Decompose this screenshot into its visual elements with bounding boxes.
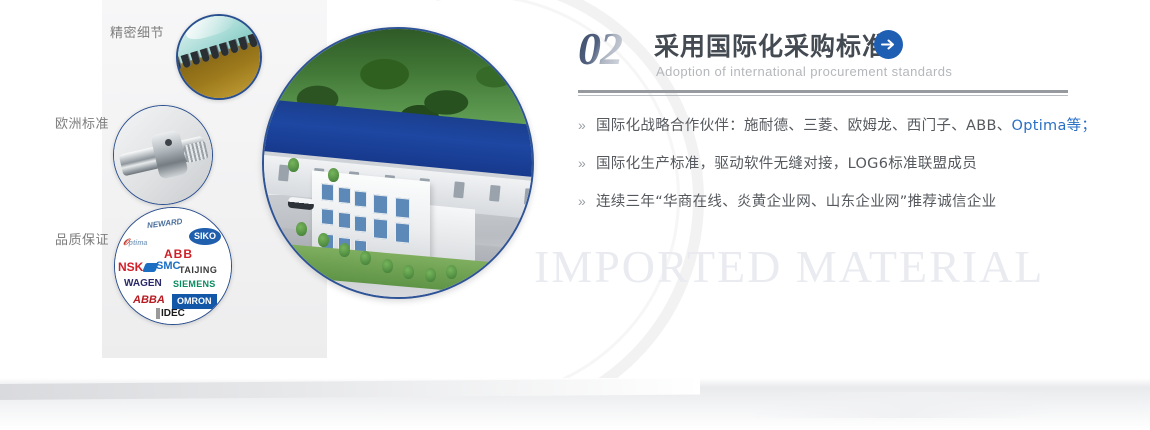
list-item-text: 连续三年“华商在线、炎黄企业网、山东企业网”推荐诚信企业 <box>596 190 996 211</box>
promo-banner: 精密细节 欧洲标准 品质保证 NEWARD SIKO 𝒪ptima ABB NS… <box>0 0 1150 430</box>
section-number: 02 <box>578 22 622 75</box>
logo-smc: SMC <box>156 261 180 272</box>
logo-wagen: WAGEN <box>124 279 162 289</box>
header-divider <box>578 90 1068 96</box>
list-item: » 国际化生产标准，驱动软件无缝对接，LOG6标准联盟成员 <box>578 152 1078 173</box>
label-european-standard: 欧洲标准 <box>55 113 109 132</box>
list-item-text: 国际化生产标准，驱动软件无缝对接，LOG6标准联盟成员 <box>596 152 977 173</box>
ball-screw-detail-circle <box>113 105 213 205</box>
precision-gear-detail-circle <box>176 14 262 100</box>
logo-abb: ABB <box>164 248 193 260</box>
section-header: 02 采用国际化采购标准 Adoption of international p… <box>578 22 1098 84</box>
idec-bar-icon <box>156 308 160 319</box>
logo-taijing: TAIJING <box>179 266 217 275</box>
logo-idec: IDEC <box>161 309 185 319</box>
brand-logos-circle: NEWARD SIKO 𝒪ptima ABB NSK SMC TAIJING W… <box>114 207 232 325</box>
label-quality-assurance: 品质保证 <box>55 229 109 248</box>
bullet-chevron-icon: » <box>578 155 596 171</box>
list-item-text: 国际化战略合作伙伴：施耐德、三菱、欧姆龙、西门子、ABB、Optima等； <box>596 114 1096 135</box>
logo-siemens: SIEMENS <box>173 280 216 289</box>
arrow-right-circle-icon[interactable] <box>874 30 903 59</box>
logo-siko: SIKO <box>189 228 221 245</box>
factory-aerial-photo <box>262 27 534 299</box>
logo-optima: 𝒪ptima <box>123 238 147 247</box>
logo-nsk: NSK <box>118 261 143 273</box>
watermark-text: IMPORTED MATERIAL <box>534 240 1044 293</box>
bullet-chevron-icon: » <box>578 193 596 209</box>
feature-list: » 国际化战略合作伙伴：施耐德、三菱、欧姆龙、西门子、ABB、Optima等； … <box>578 114 1078 228</box>
bullet-chevron-icon: » <box>578 117 596 133</box>
label-precision-detail: 精密细节 <box>110 22 164 41</box>
section-subtitle: Adoption of international procurement st… <box>656 64 952 79</box>
content-column: 02 采用国际化采购标准 Adoption of international p… <box>578 22 1098 84</box>
logo-omron: OMRON <box>172 294 217 309</box>
list-item: » 国际化战略合作伙伴：施耐德、三菱、欧姆龙、西门子、ABB、Optima等； <box>578 114 1078 135</box>
logo-abba: ABBA <box>133 295 165 306</box>
list-item: » 连续三年“华商在线、炎黄企业网、山东企业网”推荐诚信企业 <box>578 190 1078 211</box>
car-icon <box>288 196 315 210</box>
bottom-sheen-highlight <box>753 392 1150 418</box>
page-title: 采用国际化采购标准 <box>654 27 888 63</box>
